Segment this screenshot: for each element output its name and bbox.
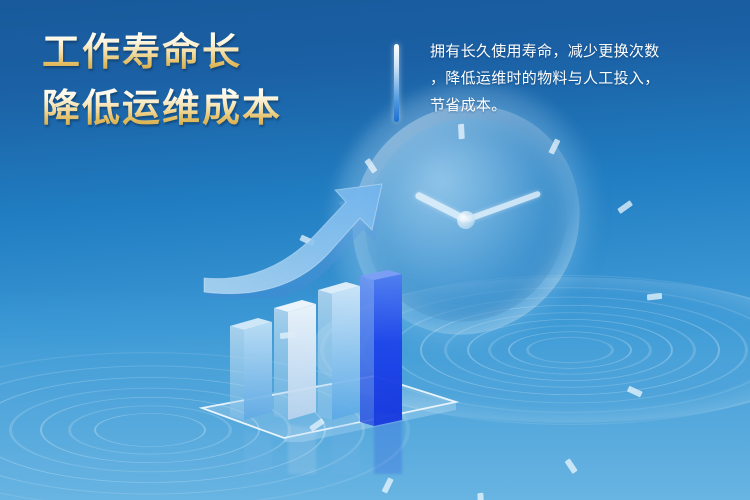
body-copy-block: 拥有长久使用寿命，减少更换次数 ，降低运维时的物料与人工投入， 节省成本。 xyxy=(430,38,730,119)
headline-block: 工作寿命长 降低运维成本 xyxy=(42,28,382,134)
bar-chart-3d xyxy=(214,270,424,430)
clock-minute-hand xyxy=(465,190,541,222)
body-copy-line-3: 节省成本。 xyxy=(430,92,730,119)
headline-line-1: 工作寿命长 xyxy=(42,28,382,78)
bar-1 xyxy=(230,318,272,420)
body-copy-line-2: ，降低运维时的物料与人工投入， xyxy=(430,65,730,92)
bar-2 xyxy=(274,300,316,420)
body-copy-line-1: 拥有长久使用寿命，减少更换次数 xyxy=(430,38,730,65)
headline-line-2: 降低运维成本 xyxy=(42,84,382,134)
clock-tick xyxy=(458,124,465,140)
banner-root: 工作寿命长 降低运维成本 拥有长久使用寿命，减少更换次数 ，降低运维时的物料与人… xyxy=(0,0,750,500)
bar-reflection xyxy=(214,408,424,474)
bar-4 xyxy=(360,270,402,426)
clock-hub xyxy=(457,210,476,230)
bar-3 xyxy=(318,282,360,420)
clock-tick xyxy=(477,493,484,500)
vertical-divider xyxy=(394,44,399,122)
